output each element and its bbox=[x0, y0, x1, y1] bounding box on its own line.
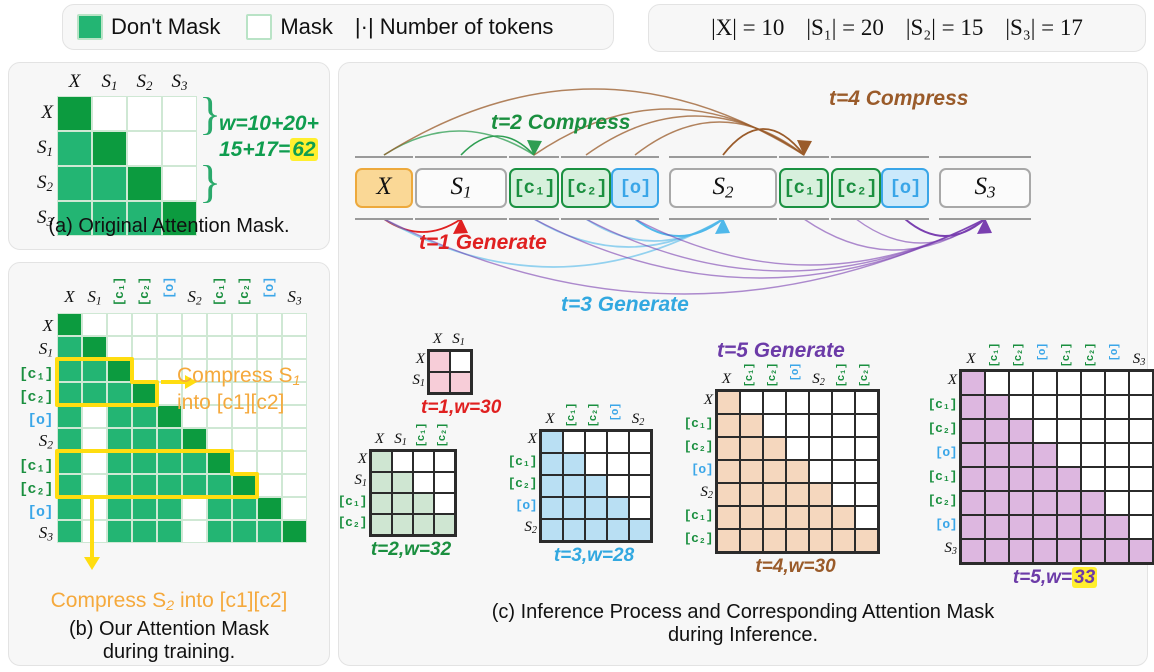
mask-cell bbox=[832, 437, 855, 460]
mask-cell bbox=[832, 391, 855, 414]
matrix-col-header: S1 bbox=[448, 330, 469, 348]
matrix-col-header: [c₁] bbox=[1055, 343, 1079, 371]
mask-cell bbox=[563, 519, 585, 541]
matrix-caption-pre: t=1,w= bbox=[421, 397, 480, 418]
mask-cell bbox=[450, 372, 471, 393]
legend-item-dont-mask: Don't Mask bbox=[77, 14, 220, 40]
token-rail bbox=[881, 156, 929, 158]
mask-cell bbox=[786, 460, 809, 483]
token-rail bbox=[509, 156, 559, 158]
panel-a-col-header: X bbox=[57, 71, 92, 94]
size-s1: |S₁| = 20 bbox=[806, 15, 884, 41]
matrix-col-header: X bbox=[427, 330, 448, 348]
matrix-grid-t3 bbox=[539, 429, 653, 543]
mask-cell bbox=[162, 131, 197, 166]
mask-cell bbox=[832, 414, 855, 437]
mask-cell bbox=[985, 515, 1009, 539]
mask-cell bbox=[1129, 491, 1153, 515]
matrix-row-header: [c₁] bbox=[673, 506, 713, 523]
mask-cell bbox=[832, 460, 855, 483]
mask-cell bbox=[1009, 539, 1033, 563]
mask-cell bbox=[1009, 443, 1033, 467]
mask-cell bbox=[607, 453, 629, 475]
mask-cell bbox=[585, 431, 607, 453]
mask-cell bbox=[392, 472, 413, 493]
mask-cell bbox=[985, 539, 1009, 563]
arc-label-2: t=1 Generate bbox=[419, 231, 547, 255]
mask-cell bbox=[832, 483, 855, 506]
mask-cell bbox=[127, 131, 162, 166]
mask-cell bbox=[563, 431, 585, 453]
token-compress-2[interactable]: [c₁] bbox=[509, 168, 559, 208]
mask-cell bbox=[809, 460, 832, 483]
mask-cell bbox=[1081, 419, 1105, 443]
matrix-col-header: [c₂] bbox=[583, 403, 605, 431]
mask-cell bbox=[607, 519, 629, 541]
mask-cell bbox=[1057, 419, 1081, 443]
token-rail bbox=[415, 156, 507, 158]
mask-cell bbox=[832, 506, 855, 529]
mask-cell bbox=[413, 472, 434, 493]
size-s2: |S₂| = 15 bbox=[906, 15, 984, 41]
mask-cell bbox=[740, 460, 763, 483]
panel-a-original-mask: XS1S2S3 XS1S2S3 } } w=10+20+ 15+17=62 (a… bbox=[8, 62, 330, 250]
mask-cell bbox=[985, 443, 1009, 467]
matrix-col-header: [c₁] bbox=[738, 363, 761, 391]
w-line1: w=10+20+ bbox=[219, 112, 319, 135]
mask-cell bbox=[1129, 395, 1153, 419]
matrix-col-header: [c₁] bbox=[983, 343, 1007, 371]
matrix-row-header: [c₁] bbox=[497, 452, 537, 469]
matrix-col-header: [c₂] bbox=[1079, 343, 1103, 371]
mask-cell bbox=[1009, 395, 1033, 419]
matrix-col-header: [o] bbox=[784, 363, 807, 385]
matrix-row-header: [o] bbox=[917, 443, 957, 460]
mask-cell bbox=[1081, 443, 1105, 467]
mask-cell bbox=[717, 460, 740, 483]
token-compress-6[interactable]: [c₁] bbox=[779, 168, 829, 208]
mask-cell bbox=[1033, 515, 1057, 539]
mask-cell bbox=[413, 451, 434, 472]
legend-item-mask: Mask bbox=[246, 14, 333, 40]
mask-cell bbox=[629, 453, 651, 475]
mask-cell bbox=[541, 453, 563, 475]
matrix-row-header: S1 bbox=[327, 471, 367, 489]
mask-cell bbox=[1033, 419, 1057, 443]
mask-cell bbox=[832, 529, 855, 552]
mask-cell bbox=[1081, 515, 1105, 539]
mask-cell bbox=[855, 437, 878, 460]
mask-cell bbox=[740, 483, 763, 506]
mask-cell bbox=[740, 437, 763, 460]
panel-c-caption-line2: during Inference. bbox=[668, 624, 818, 646]
token-output-8[interactable]: [o] bbox=[881, 168, 929, 208]
mask-cell bbox=[1129, 539, 1153, 563]
mask-cell bbox=[392, 493, 413, 514]
mask-cell bbox=[371, 493, 392, 514]
mask-cell bbox=[541, 475, 563, 497]
mask-cell bbox=[855, 529, 878, 552]
matrix-row-header: [c₂] bbox=[497, 474, 537, 491]
mask-cell bbox=[1057, 491, 1081, 515]
token-plain-5[interactable]: S2 bbox=[669, 168, 777, 208]
mask-cell bbox=[1033, 491, 1057, 515]
arc-label-3: t=3 Generate bbox=[561, 293, 689, 317]
mask-cell bbox=[786, 437, 809, 460]
mask-cell bbox=[371, 514, 392, 535]
legend-item-notation: |·| Number of tokens bbox=[355, 14, 554, 40]
mask-cell bbox=[563, 497, 585, 519]
panel-a-col-header: S2 bbox=[127, 71, 162, 94]
mask-cell bbox=[717, 483, 740, 506]
mask-cell bbox=[563, 453, 585, 475]
mask-cell bbox=[1129, 467, 1153, 491]
arc-label-4: t=5 Generate bbox=[717, 339, 845, 363]
token-compress-7[interactable]: [c₂] bbox=[831, 168, 881, 208]
mask-cell bbox=[985, 419, 1009, 443]
mask-cell bbox=[413, 493, 434, 514]
matrix-col-header: [c₂] bbox=[1007, 343, 1031, 371]
mask-cell bbox=[629, 497, 651, 519]
arc-label-1: t=4 Compress bbox=[829, 87, 968, 111]
mask-cell bbox=[434, 472, 455, 493]
matrix-col-header: X bbox=[715, 370, 738, 388]
compress-s1-line1: Compress S bbox=[177, 364, 293, 387]
mask-cell bbox=[127, 96, 162, 131]
matrix-row-header: [c₁] bbox=[917, 395, 957, 412]
mask-cell bbox=[392, 514, 413, 535]
mask-cell bbox=[740, 391, 763, 414]
mask-cell bbox=[809, 506, 832, 529]
mask-cell bbox=[1033, 395, 1057, 419]
mask-cell bbox=[961, 395, 985, 419]
panel-c-caption-line1: (c) Inference Process and Corresponding … bbox=[492, 601, 994, 623]
panel-a-row-header: S1 bbox=[17, 137, 53, 160]
mask-cell bbox=[607, 497, 629, 519]
mask-cell bbox=[1009, 515, 1033, 539]
mask-label: Mask bbox=[280, 14, 333, 40]
token-rail bbox=[561, 156, 611, 158]
token-rail bbox=[355, 218, 413, 220]
mask-cell bbox=[717, 506, 740, 529]
compress-s1-sub: 1 bbox=[293, 373, 301, 389]
matrix-row-header: X bbox=[327, 450, 367, 468]
matrix-col-header: [c₂] bbox=[853, 363, 876, 391]
mask-cell bbox=[127, 166, 162, 201]
mask-cell bbox=[985, 467, 1009, 491]
mask-cell bbox=[541, 431, 563, 453]
mask-cell bbox=[961, 371, 985, 395]
matrix-row-header: [c₁] bbox=[327, 492, 367, 509]
token-rail bbox=[669, 156, 777, 158]
panel-b-caption-line1: (b) Our Attention Mask bbox=[69, 618, 269, 640]
matrix-row-header: S1 bbox=[399, 371, 425, 389]
mask-cell bbox=[1033, 371, 1057, 395]
token-rail bbox=[415, 218, 507, 220]
mask-cell bbox=[1033, 539, 1057, 563]
mask-cell bbox=[371, 472, 392, 493]
mask-cell bbox=[740, 414, 763, 437]
mask-cell bbox=[1081, 395, 1105, 419]
compress-s2-post: into [c1][c2] bbox=[174, 589, 287, 612]
matrix-row-header: X bbox=[399, 350, 425, 368]
matrix-row-header: [c₂] bbox=[917, 419, 957, 436]
brace-upper: } bbox=[199, 91, 221, 137]
mask-cell bbox=[1105, 395, 1129, 419]
mask-cell bbox=[763, 506, 786, 529]
mask-swatch bbox=[246, 14, 272, 40]
mask-cell bbox=[585, 475, 607, 497]
mask-cell bbox=[607, 475, 629, 497]
panel-a-col-header: S1 bbox=[92, 71, 127, 94]
mask-cell bbox=[985, 371, 1009, 395]
mask-cell bbox=[434, 493, 455, 514]
mask-cell bbox=[450, 351, 471, 372]
matrix-row-header: [c₂] bbox=[917, 491, 957, 508]
panel-a-caption: (a) Original Attention Mask. bbox=[9, 215, 329, 238]
panel-a-col-header: S3 bbox=[162, 71, 197, 94]
matrix-caption-t2: t=2,w=32 bbox=[363, 539, 459, 561]
token-rail bbox=[939, 156, 1031, 158]
token-rail bbox=[831, 218, 881, 220]
matrix-col-header: X bbox=[959, 350, 983, 368]
mask-cell bbox=[585, 497, 607, 519]
mask-cell bbox=[1009, 419, 1033, 443]
token-plain-1[interactable]: S1 bbox=[415, 168, 507, 208]
matrix-col-header: [c₂] bbox=[432, 423, 453, 451]
matrix-row-header: X bbox=[673, 391, 713, 409]
mask-cell bbox=[1129, 419, 1153, 443]
mask-cell bbox=[607, 431, 629, 453]
mask-cell bbox=[434, 451, 455, 472]
matrix-row-header: [c₂] bbox=[673, 437, 713, 454]
panel-b-caption: (b) Our Attention Mask during training. bbox=[9, 618, 329, 664]
mask-cell bbox=[57, 131, 92, 166]
mask-cell bbox=[1009, 491, 1033, 515]
matrix-caption-pre: t=3,w= bbox=[554, 545, 613, 566]
mask-cell bbox=[809, 391, 832, 414]
compress-s1-line2: into [c1][c2] bbox=[177, 391, 284, 414]
matrix-w-value: 32 bbox=[430, 539, 451, 560]
mask-cell bbox=[855, 460, 878, 483]
mask-cell bbox=[541, 497, 563, 519]
mask-cell bbox=[763, 414, 786, 437]
mask-cell bbox=[57, 96, 92, 131]
size-s3: |S₃| = 17 bbox=[1005, 15, 1083, 41]
mask-cell bbox=[1009, 371, 1033, 395]
arc-label-0: t=2 Compress bbox=[491, 111, 630, 135]
mask-cell bbox=[786, 391, 809, 414]
compress-s2-annotation: Compress S2 into [c1][c2] bbox=[9, 588, 329, 615]
matrix-row-header: [c₂] bbox=[327, 513, 367, 530]
matrix-row-header: S2 bbox=[497, 518, 537, 536]
matrix-col-header: S2 bbox=[627, 410, 649, 428]
token-output-4[interactable]: [o] bbox=[611, 168, 659, 208]
matrix-row-header: S3 bbox=[917, 539, 957, 557]
mask-cell bbox=[92, 96, 127, 131]
mask-cell bbox=[809, 529, 832, 552]
mask-cell bbox=[786, 483, 809, 506]
token-rail bbox=[779, 156, 829, 158]
mask-cell bbox=[855, 483, 878, 506]
mask-cell bbox=[763, 483, 786, 506]
mask-cell bbox=[763, 529, 786, 552]
matrix-caption-pre: t=2,w= bbox=[371, 539, 430, 560]
mask-cell bbox=[1105, 443, 1129, 467]
mask-cell bbox=[786, 506, 809, 529]
compress-s2-pre: Compress S bbox=[51, 589, 167, 612]
matrix-row-header: [o] bbox=[917, 515, 957, 532]
matrix-col-header: X bbox=[369, 430, 390, 448]
size-x: |X| = 10 bbox=[711, 15, 784, 41]
matrix-col-header: X bbox=[539, 410, 561, 428]
w-line2-pre: 15+17= bbox=[219, 138, 290, 161]
mask-cell bbox=[809, 483, 832, 506]
mask-cell bbox=[629, 519, 651, 541]
mask-cell bbox=[961, 443, 985, 467]
mask-cell bbox=[92, 131, 127, 166]
token-rail bbox=[831, 156, 881, 158]
matrix-caption-t1: t=1,w=30 bbox=[421, 397, 475, 419]
mask-cell bbox=[1009, 467, 1033, 491]
mask-cell bbox=[961, 539, 985, 563]
matrix-row-header: [o] bbox=[497, 496, 537, 513]
panel-c-caption: (c) Inference Process and Corresponding … bbox=[339, 601, 1147, 647]
mask-cell bbox=[961, 491, 985, 515]
matrix-row-header: [c₁] bbox=[917, 467, 957, 484]
token-compress-3[interactable]: [c₂] bbox=[561, 168, 611, 208]
mask-cell bbox=[585, 453, 607, 475]
mask-cell bbox=[786, 529, 809, 552]
token-rail bbox=[611, 156, 659, 158]
mask-cell bbox=[763, 460, 786, 483]
mask-cell bbox=[563, 475, 585, 497]
matrix-col-header: [c₂] bbox=[761, 363, 784, 391]
mask-cell bbox=[809, 414, 832, 437]
matrix-row-header: X bbox=[917, 371, 957, 389]
matrix-row-header: [c₁] bbox=[673, 414, 713, 431]
mask-cell bbox=[392, 451, 413, 472]
panel-b-caption-line2: during training. bbox=[103, 641, 235, 663]
mask-cell bbox=[585, 519, 607, 541]
matrix-caption-t3: t=3,w=28 bbox=[533, 545, 655, 567]
mask-cell bbox=[629, 475, 651, 497]
mask-cell bbox=[1105, 467, 1129, 491]
matrix-w-value: 30 bbox=[480, 397, 501, 418]
mask-cell bbox=[1105, 491, 1129, 515]
mask-cell bbox=[1057, 467, 1081, 491]
mask-cell bbox=[429, 351, 450, 372]
panel-b-our-mask: XS1[c₁][c₂][o]S2[c₁][c₂][o]S3 XS1[c₁][c₂… bbox=[8, 262, 330, 666]
mask-cell bbox=[92, 166, 127, 201]
mask-cell bbox=[162, 166, 197, 201]
mask-cell bbox=[1057, 443, 1081, 467]
mask-cell bbox=[541, 519, 563, 541]
matrix-col-header: S3 bbox=[1127, 350, 1151, 368]
mask-cell bbox=[717, 414, 740, 437]
matrix-grid-t1 bbox=[427, 349, 473, 395]
mask-cell bbox=[1057, 515, 1081, 539]
matrix-row-header: [o] bbox=[673, 460, 713, 477]
legend-bar-mask: Don't Mask Mask |·| Number of tokens bbox=[62, 4, 614, 50]
matrix-col-header: [c₁] bbox=[561, 403, 583, 431]
token-input-0[interactable]: X bbox=[355, 168, 413, 208]
matrix-row-header: [c₂] bbox=[673, 529, 713, 546]
token-rail bbox=[939, 218, 1031, 220]
mask-cell bbox=[629, 431, 651, 453]
mask-cell bbox=[786, 414, 809, 437]
w-total: 62 bbox=[290, 138, 317, 161]
panel-a-w-text: w=10+20+ 15+17=62 bbox=[219, 111, 329, 164]
token-rail bbox=[561, 218, 611, 220]
matrix-row-header: S2 bbox=[673, 483, 713, 501]
compress-s1-annotation: Compress S1 into [c1][c2] bbox=[177, 363, 327, 415]
panel-a-row-header: S2 bbox=[17, 172, 53, 195]
brace-lower: } bbox=[199, 159, 221, 205]
mask-cell bbox=[961, 467, 985, 491]
matrix-w-value: 33 bbox=[1072, 567, 1097, 588]
matrix-grid-t4 bbox=[715, 389, 880, 554]
matrix-caption-pre: t=4,w= bbox=[755, 556, 814, 577]
mask-cell bbox=[740, 529, 763, 552]
mask-cell bbox=[985, 491, 1009, 515]
matrix-col-header: [o] bbox=[1103, 343, 1127, 365]
notation-label: |·| Number of tokens bbox=[355, 14, 554, 40]
matrix-col-header: S1 bbox=[390, 430, 411, 448]
matrix-caption-t5: t=5,w=33 bbox=[953, 567, 1154, 589]
panel-c-inference: XS1[c₁][c₂][o]S2[c₁][c₂][o]S3 t=2 Compre… bbox=[338, 62, 1148, 666]
matrix-caption-pre: t=5,w= bbox=[1013, 567, 1072, 588]
mask-cell bbox=[961, 419, 985, 443]
matrix-w-value: 28 bbox=[613, 545, 634, 566]
mask-cell bbox=[717, 391, 740, 414]
mask-cell bbox=[57, 166, 92, 201]
mask-cell bbox=[985, 395, 1009, 419]
mask-cell bbox=[1081, 491, 1105, 515]
mask-cell bbox=[763, 391, 786, 414]
token-rail bbox=[881, 218, 929, 220]
mask-cell bbox=[1105, 419, 1129, 443]
mask-cell bbox=[1057, 539, 1081, 563]
mask-cell bbox=[1033, 467, 1057, 491]
matrix-col-header: [o] bbox=[605, 403, 627, 425]
mask-cell bbox=[1081, 371, 1105, 395]
matrix-w-value: 30 bbox=[815, 556, 836, 577]
mask-cell bbox=[961, 515, 985, 539]
mask-cell bbox=[1057, 395, 1081, 419]
token-rail bbox=[509, 218, 559, 220]
mask-cell bbox=[740, 506, 763, 529]
legend-bar-sizes: |X| = 10 |S₁| = 20 |S₂| = 15 |S₃| = 17 bbox=[648, 4, 1146, 52]
token-rail bbox=[779, 218, 829, 220]
matrix-row-header: X bbox=[497, 430, 537, 448]
panel-a-row-header: X bbox=[17, 102, 53, 125]
token-rail bbox=[355, 156, 413, 158]
mask-cell bbox=[1129, 515, 1153, 539]
token-plain-9[interactable]: S3 bbox=[939, 168, 1031, 208]
token-rail bbox=[611, 218, 659, 220]
compress-s2-sub: 2 bbox=[166, 598, 174, 614]
mask-cell bbox=[717, 437, 740, 460]
mask-cell bbox=[809, 437, 832, 460]
mask-cell bbox=[1081, 539, 1105, 563]
mask-cell bbox=[1081, 467, 1105, 491]
matrix-col-header: [c₁] bbox=[830, 363, 853, 391]
mask-cell bbox=[434, 514, 455, 535]
matrix-col-header: [o] bbox=[1031, 343, 1055, 365]
mask-cell bbox=[763, 437, 786, 460]
mask-cell bbox=[162, 96, 197, 131]
